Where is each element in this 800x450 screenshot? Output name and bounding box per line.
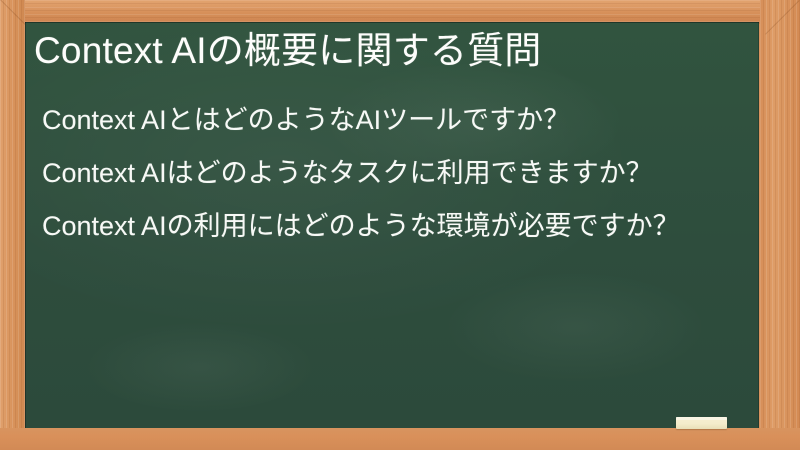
chalk-dust-smudge <box>445 272 705 382</box>
question-list: Context AIとはどのようなAIツールですか？ Context AIはどの… <box>42 100 754 253</box>
slide-title: Context AIの概要に関する質問 <box>34 27 750 75</box>
wood-frame-top <box>0 0 800 24</box>
question-item: Context AIの利用にはどのような環境が必要ですか？ <box>42 206 754 247</box>
question-item: Context AIとはどのようなAIツールですか？ <box>42 100 754 141</box>
chalk-stick <box>676 417 727 429</box>
question-item: Context AIはどのようなタスクに利用できますか？ <box>42 153 754 194</box>
wood-frame-right <box>760 0 800 450</box>
wood-frame-bottom-ledge <box>0 428 800 450</box>
chalkboard-surface: Context AIの概要に関する質問 Context AIとはどのようなAIツ… <box>25 22 759 428</box>
wood-frame-left <box>0 0 25 450</box>
chalkboard-slide: Context AIの概要に関する質問 Context AIとはどのようなAIツ… <box>0 0 800 450</box>
chalk-dust-smudge <box>85 322 315 412</box>
